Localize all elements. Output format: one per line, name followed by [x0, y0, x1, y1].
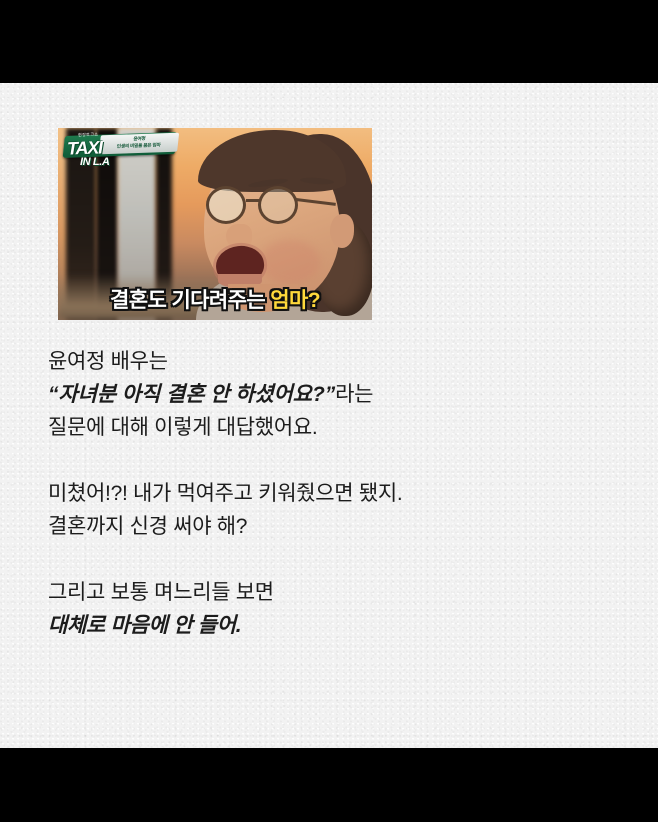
photo-caption: 결혼도 기다려주는 엄마?	[58, 284, 372, 314]
content-sheet: 윤여정 인생의 비밀을 품은 엄마 현장토크쇼 TAXI IN L.A 결혼도 …	[0, 83, 658, 748]
logo-show-location: IN L.A	[80, 156, 109, 168]
text-line: 미쳤어!?! 내가 먹여주고 키워줬으면 됐지.	[48, 482, 402, 505]
text-line: “자녀분 아직 결혼 안 하셨어요?”라는	[48, 383, 373, 406]
text-line: 그리고 보통 며느리들 보면	[48, 581, 274, 604]
photo-caption-yellow: 엄마?	[270, 289, 320, 312]
text-line: 질문에 대해 이렇게 대답했어요.	[48, 416, 317, 439]
article-body: 윤여정 배우는 “자녀분 아직 결혼 안 하셨어요?”라는 질문에 대해 이렇게…	[48, 345, 608, 642]
text-line: 결혼까지 신경 써야 해?	[48, 515, 247, 538]
show-logo: 윤여정 인생의 비밀을 품은 엄마 현장토크쇼 TAXI IN L.A	[64, 132, 184, 174]
paragraph-intro: 윤여정 배우는 “자녀분 아직 결혼 안 하셨어요?”라는 질문에 대해 이렇게…	[48, 345, 608, 444]
article-photo: 윤여정 인생의 비밀을 품은 엄마 현장토크쇼 TAXI IN L.A 결혼도 …	[58, 128, 372, 320]
page-root: 윤여정 인생의 비밀을 품은 엄마 현장토크쇼 TAXI IN L.A 결혼도 …	[0, 0, 658, 822]
paragraph-quote-two: 그리고 보통 며느리들 보면 대체로 마음에 안 들어.	[48, 576, 608, 642]
logo-guest-tag-text: 윤여정 인생의 비밀을 품은 엄마	[103, 135, 175, 150]
subject-cheek	[260, 240, 320, 284]
glasses-temple	[296, 198, 336, 206]
glasses-lens-left	[206, 186, 246, 224]
letterbox-bar-top	[0, 0, 658, 83]
glasses-lens-right	[258, 186, 298, 224]
subject-glasses-icon	[206, 186, 332, 226]
paragraph-quote-one: 미쳤어!?! 내가 먹여주고 키워줬으면 됐지. 결혼까지 신경 써야 해?	[48, 477, 608, 543]
glasses-bridge	[246, 199, 260, 202]
letterbox-bar-bottom	[0, 748, 658, 822]
text-line: 윤여정 배우는	[48, 350, 168, 373]
subject-ear	[330, 214, 354, 248]
text-line-emphasis: 대체로 마음에 안 들어.	[48, 614, 241, 637]
text-suffix: 라는	[335, 383, 373, 406]
photo-caption-white: 결혼도 기다려주는	[110, 289, 270, 312]
quoted-question: “자녀분 아직 결혼 안 하셨어요?”	[48, 383, 335, 406]
